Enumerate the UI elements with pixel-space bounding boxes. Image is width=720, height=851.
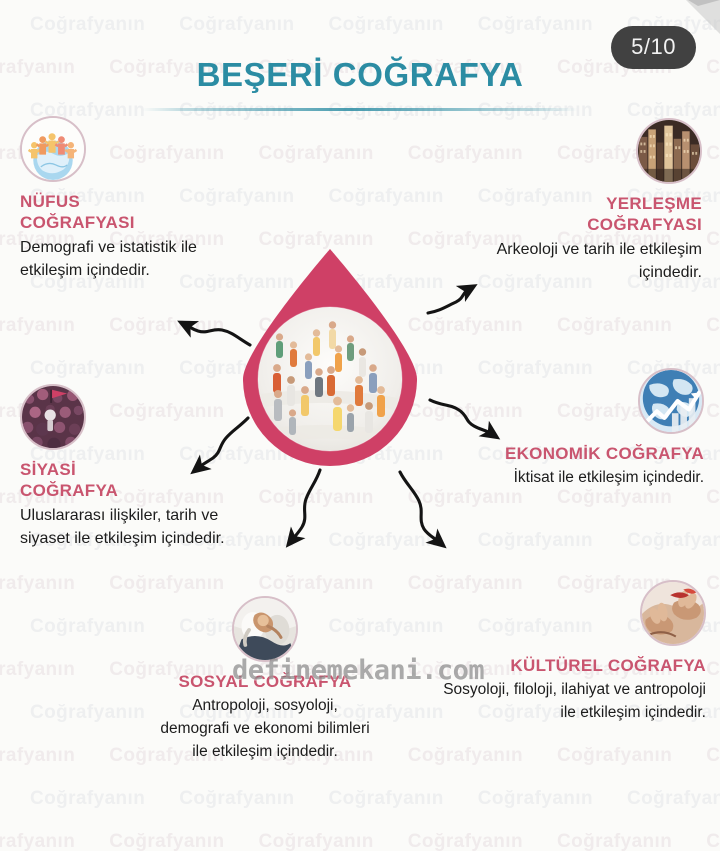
central-droplet — [243, 245, 417, 467]
heading-line-1: SİYASİ — [20, 460, 76, 479]
page-title: BEŞERİ COĞRAFYA — [0, 56, 720, 94]
people-sitting-icon — [232, 596, 298, 662]
branch-heading: KÜLTÜREL COĞRAFYA — [441, 655, 706, 676]
crowd-protest-icon — [20, 384, 86, 450]
heading-line-2: COĞRAFYASI — [20, 213, 135, 232]
branch-body: Sosyoloji, filoloji, ilahiyat ve antropo… — [441, 679, 706, 724]
heading-line-2: COĞRAFYASI — [587, 215, 702, 234]
branch-body: Antropoloji, sosyoloji, demografi ve eko… — [160, 695, 370, 763]
branch-sosyal[interactable]: SOSYAL COĞRAFYA Antropoloji, sosyoloji, … — [160, 596, 370, 763]
heading-line-2: COĞRAFYA — [20, 481, 118, 500]
branch-body: Uluslararası ilişkiler, tarih ve siyaset… — [20, 505, 245, 550]
slide-canvas: CoğrafyanınCoğrafyanınCoğrafyanınCoğrafy… — [0, 0, 720, 851]
title-divider — [142, 108, 578, 111]
branch-kulturel[interactable]: KÜLTÜREL COĞRAFYA Sosyoloji, filoloji, i… — [441, 580, 706, 724]
city-buildings-icon — [636, 118, 702, 184]
branch-yerlesme[interactable]: YERLEŞMECOĞRAFYASI Arkeoloji ve tarih il… — [487, 118, 702, 284]
branch-heading: SOSYAL COĞRAFYA — [160, 671, 370, 692]
branch-ekonomik[interactable]: EKONOMİK COĞRAFYA İktisat ile etkileşim … — [469, 368, 704, 489]
heading-line-1: YERLEŞME — [606, 194, 702, 213]
heading-line-1: NÜFUS — [20, 192, 80, 211]
page-corner-fold-icon — [686, 0, 720, 34]
branch-body: Demografi ve istatistik ile etkileşim iç… — [20, 237, 230, 282]
branch-heading: EKONOMİK COĞRAFYA — [469, 443, 704, 464]
branch-body: İktisat ile etkileşim içindedir. — [469, 467, 704, 489]
branch-heading: NÜFUSCOĞRAFYASI — [20, 191, 230, 234]
watermark-row: CoğrafyanınCoğrafyanınCoğrafyanınCoğrafy… — [0, 0, 720, 3]
henna-hands-icon — [640, 580, 706, 646]
watermark-row: CoğrafyanınCoğrafyanınCoğrafyanınCoğrafy… — [0, 820, 720, 851]
watermark-row: CoğrafyanınCoğrafyanınCoğrafyanınCoğrafy… — [0, 777, 720, 820]
branch-body: Arkeoloji ve tarih ile etkileşim içinded… — [487, 239, 702, 284]
page-counter-badge: 5/10 — [611, 26, 696, 69]
branch-heading: SİYASİCOĞRAFYA — [20, 459, 245, 502]
branch-siyasi[interactable]: SİYASİCOĞRAFYA Uluslararası ilişkiler, t… — [20, 384, 245, 550]
branch-heading: YERLEŞMECOĞRAFYASI — [487, 193, 702, 236]
paper-people-globe-icon — [20, 116, 86, 182]
branch-nufus[interactable]: NÜFUSCOĞRAFYASI Demografi ve istatistik … — [20, 116, 230, 282]
globe-chart-arrow-icon — [638, 368, 704, 434]
